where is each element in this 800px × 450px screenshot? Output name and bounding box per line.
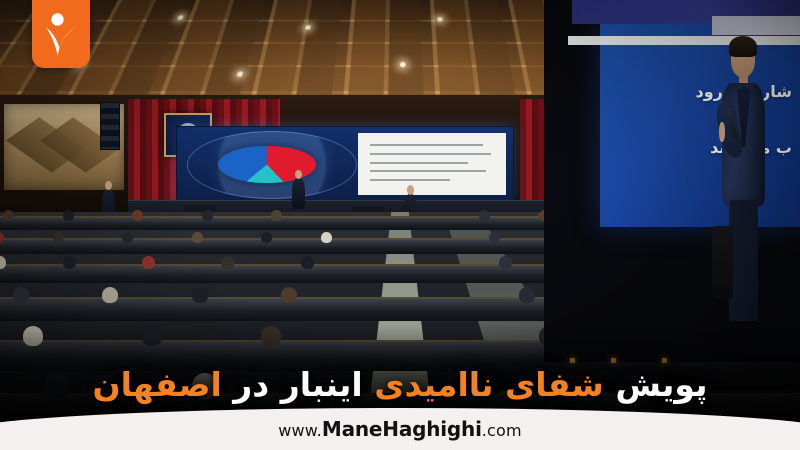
stage-bag	[712, 226, 733, 299]
keynote-speaker	[718, 41, 769, 321]
url-brand: ManeHaghighi	[322, 417, 482, 441]
headline-segment-4: اصفهان	[92, 365, 221, 404]
led-stage-screen	[176, 126, 514, 202]
headline-segment-3: اینبار در	[233, 365, 362, 404]
headline-segment-1: پویش	[615, 365, 707, 404]
headline-segment-2: شفای ناامیدی	[374, 365, 604, 404]
website-url[interactable]: www. ManeHaghighi .com	[278, 417, 522, 441]
speaker-hand	[719, 122, 725, 142]
line-array-speaker-left	[100, 102, 120, 151]
person-check-figure-icon	[41, 10, 81, 58]
speaker-hair	[729, 36, 757, 57]
headline: پویش شفای ناامیدی اینبار در اصفهان	[0, 367, 800, 404]
presentation-slide: شارها و رود ب می‌رسد	[600, 20, 800, 227]
screen-text-panel	[358, 133, 506, 195]
event-banner: شارها و رود ب می‌رسد	[0, 0, 800, 450]
screen-ring-graphic	[187, 131, 357, 198]
stage-presenter-distant	[292, 178, 305, 210]
url-prefix: www.	[278, 421, 322, 440]
speaker-trousers	[729, 200, 758, 321]
url-suffix: .com	[482, 421, 522, 440]
footer-bar: www. ManeHaghighi .com	[0, 408, 800, 450]
mane-haghighi-logo[interactable]	[32, 0, 90, 68]
speaker-stage-area: شارها و رود ب می‌رسد	[544, 0, 800, 369]
